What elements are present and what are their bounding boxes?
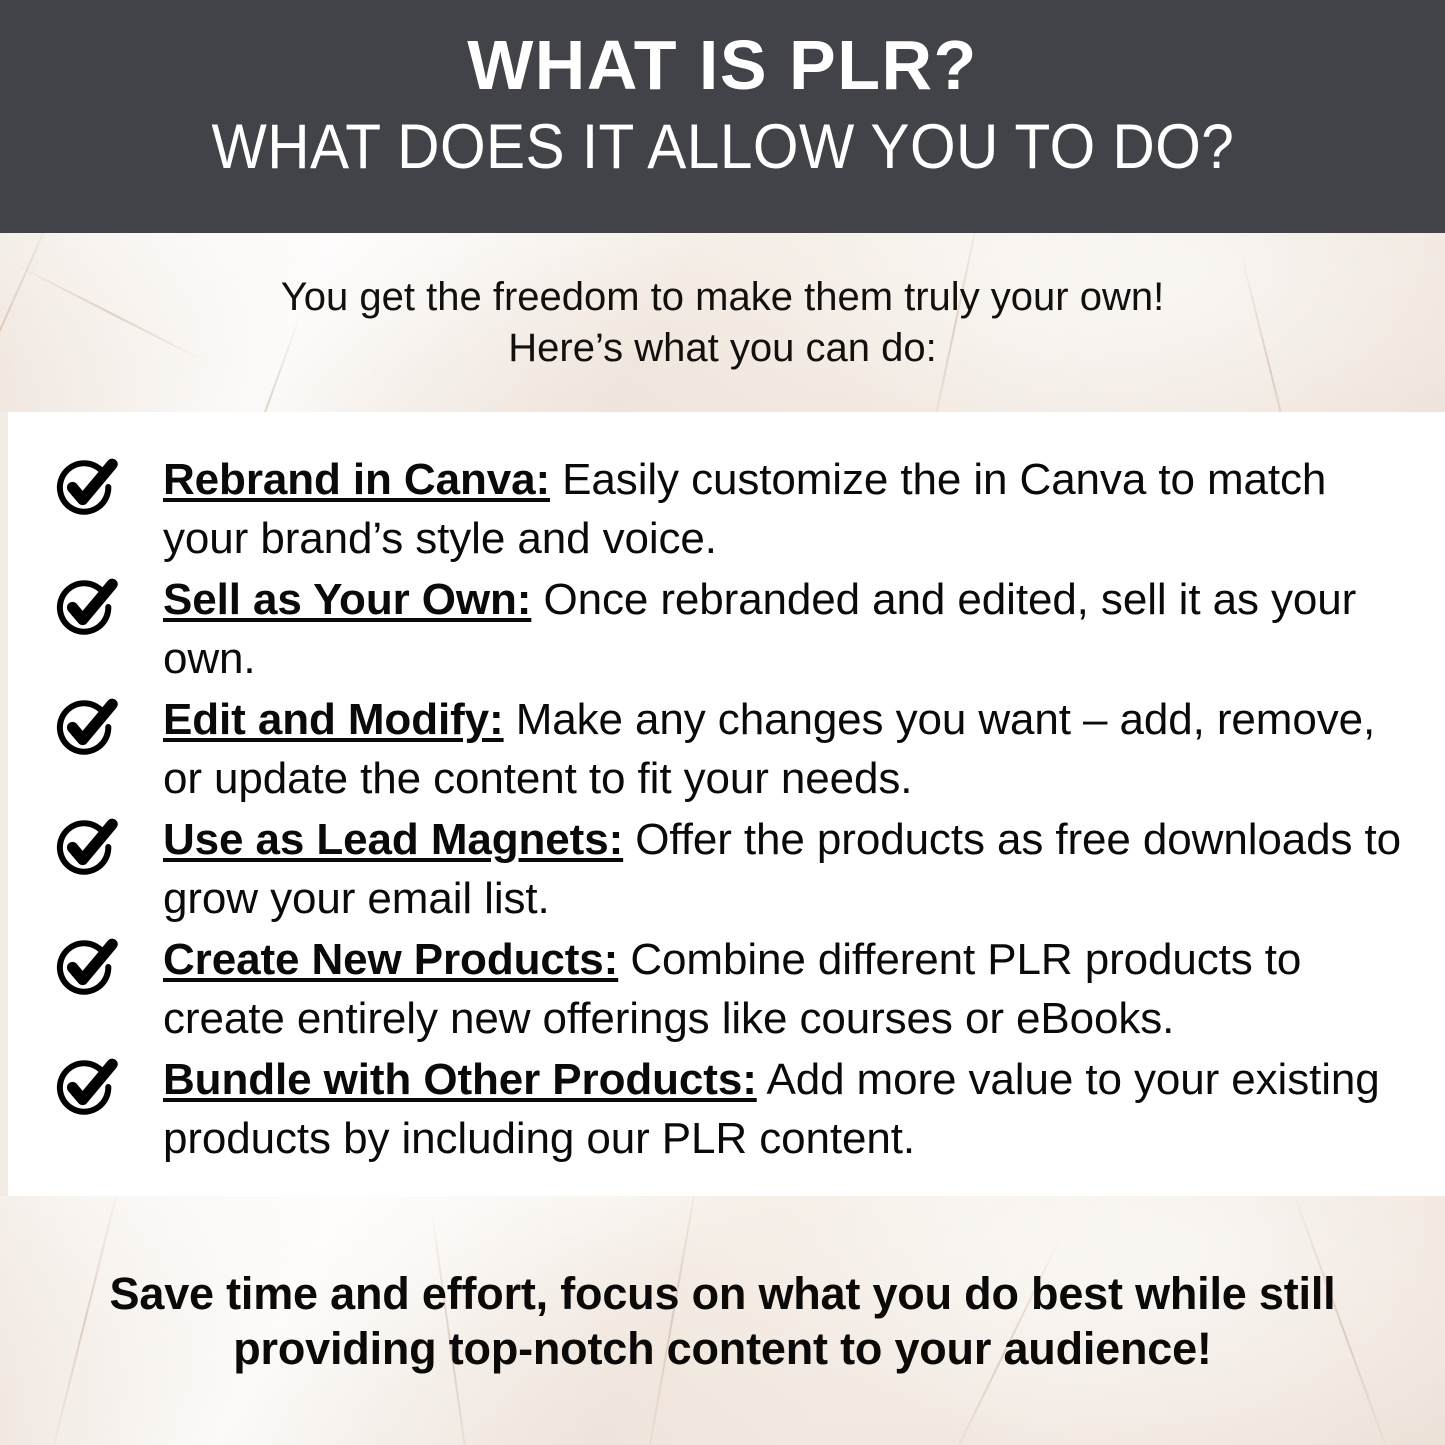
benefits-card: Rebrand in Canva: Easily customize the i… [8,412,1445,1196]
intro-band: You get the freedom to make them truly y… [0,233,1445,412]
check-circle-icon [56,1056,118,1118]
list-item: Rebrand in Canva: Easily customize the i… [56,450,1405,568]
check-circle-icon [56,576,118,638]
list-item-label: Bundle with Other Products: [163,1055,757,1104]
plr-info-poster: WHAT IS PLR? WHAT DOES IT ALLOW YOU TO D… [0,0,1445,1445]
intro-line-1: You get the freedom to make them truly y… [281,272,1164,323]
check-circle-icon [56,696,118,758]
page-title: WHAT IS PLR? [467,22,978,108]
list-item-text: Create New Products: Combine different P… [163,930,1405,1048]
list-item: Use as Lead Magnets: Offer the products … [56,810,1405,928]
check-circle-icon [56,936,118,998]
list-item-text: Sell as Your Own: Once rebranded and edi… [163,570,1405,688]
page-subtitle: WHAT DOES IT ALLOW YOU TO DO? [211,108,1234,186]
footer-callout-text: Save time and effort, focus on what you … [58,1266,1388,1376]
list-item: Edit and Modify: Make any changes you wa… [56,690,1405,808]
list-item-text: Use as Lead Magnets: Offer the products … [163,810,1405,928]
list-item: Create New Products: Combine different P… [56,930,1405,1048]
marble-vein [10,262,207,363]
list-item-label: Sell as Your Own: [163,575,531,624]
header-banner: WHAT IS PLR? WHAT DOES IT ALLOW YOU TO D… [0,0,1445,233]
list-item-label: Create New Products: [163,935,618,984]
list-item-text: Rebrand in Canva: Easily customize the i… [163,450,1405,568]
benefits-list: Rebrand in Canva: Easily customize the i… [56,450,1405,1168]
list-item: Bundle with Other Products: Add more val… [56,1050,1405,1168]
footer-band: Save time and effort, focus on what you … [0,1196,1445,1445]
check-circle-icon [56,816,118,878]
marble-vein [0,233,62,412]
marble-vein [232,313,302,412]
list-item-label: Rebrand in Canva: [163,455,550,504]
list-item-text: Bundle with Other Products: Add more val… [163,1050,1405,1168]
check-circle-icon [56,456,118,518]
list-item-label: Edit and Modify: [163,695,504,744]
list-item: Sell as Your Own: Once rebranded and edi… [56,570,1405,688]
intro-line-2: Here’s what you can do: [508,323,936,374]
list-item-label: Use as Lead Magnets: [163,815,623,864]
list-item-text: Edit and Modify: Make any changes you wa… [163,690,1405,808]
marble-vein [1240,253,1300,412]
